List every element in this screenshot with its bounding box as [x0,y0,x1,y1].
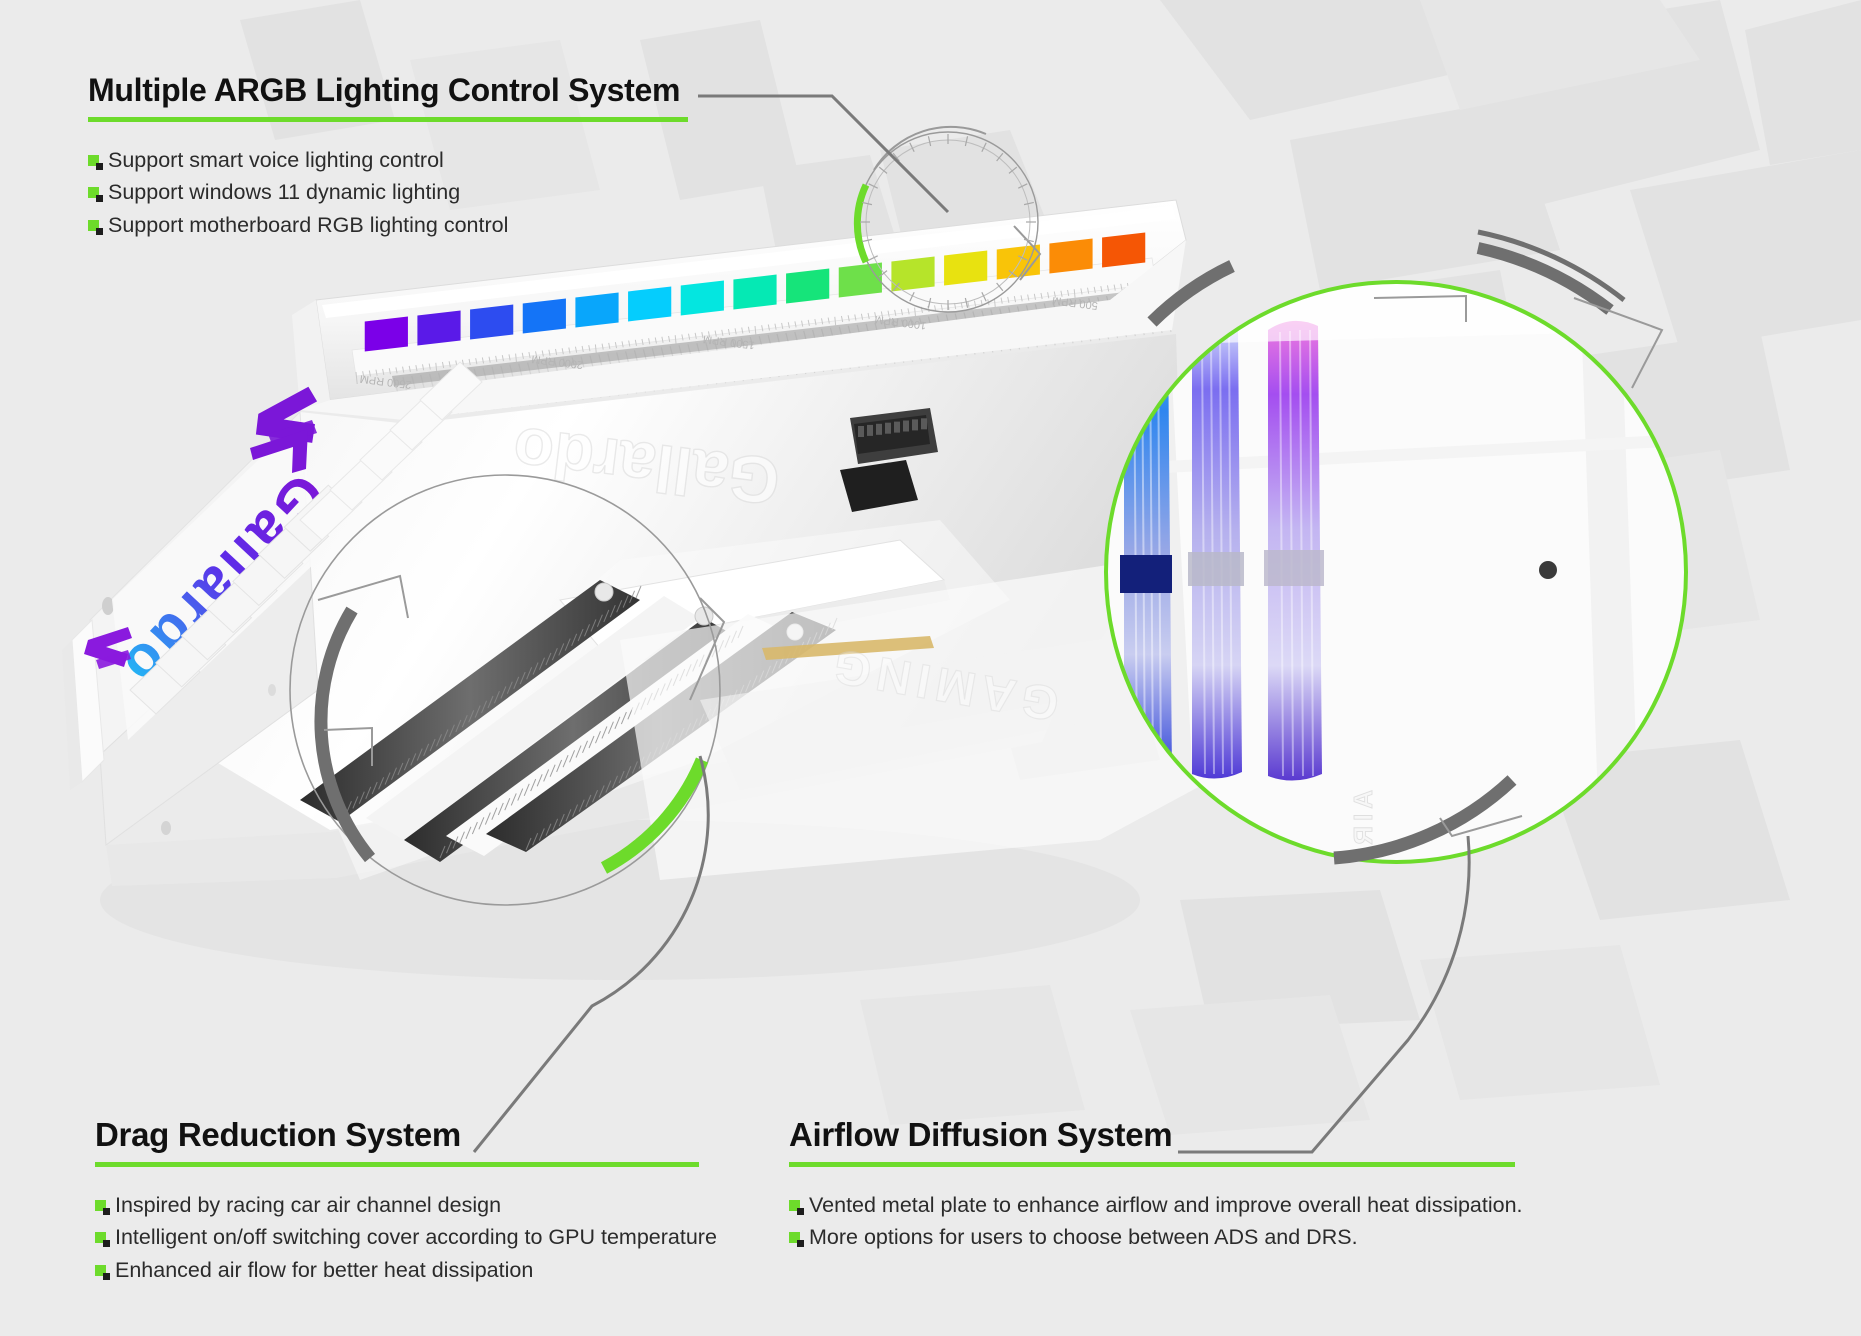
callout-drs-bullets: Inspired by racing car air channel desig… [95,1191,717,1285]
bullet-square-icon [95,1232,106,1243]
callout-ads: Airflow Diffusion System Vented metal pl… [789,1118,1523,1256]
bullet-label: Support motherboard RGB lighting control [108,211,508,240]
list-item: Support smart voice lighting control [88,146,688,175]
bullet-label: More options for users to choose between… [809,1223,1358,1252]
argb-strip-3 [1264,321,1324,781]
bullet-label: Intelligent on/off switching cover accor… [115,1223,717,1252]
list-item: Vented metal plate to enhance airflow an… [789,1191,1523,1220]
list-item: Support motherboard RGB lighting control [88,211,688,240]
callout-drs: Drag Reduction System Inspired by racing… [95,1118,717,1288]
list-item: Intelligent on/off switching cover accor… [95,1223,717,1252]
bullet-label: Inspired by racing car air channel desig… [115,1191,501,1220]
bullet-label: Support windows 11 dynamic lighting [108,178,460,207]
leader-argb [698,96,948,212]
bullet-label: Enhanced air flow for better heat dissip… [115,1256,533,1285]
bullet-square-icon [88,155,99,166]
callout-ads-title: Airflow Diffusion System [789,1118,1523,1153]
callout-argb-underline [88,117,688,122]
bullet-label: Vented metal plate to enhance airflow an… [809,1191,1523,1220]
list-item: More options for users to choose between… [789,1223,1523,1252]
callout-ads-bullets: Vented metal plate to enhance airflow an… [789,1191,1523,1252]
callout-drs-title: Drag Reduction System [95,1118,717,1153]
argb-strip-2 [1188,326,1244,779]
bullet-label: Support smart voice lighting control [108,146,444,175]
callout-drs-underline [95,1162,699,1167]
bullet-square-icon [789,1200,800,1211]
bullet-square-icon [95,1200,106,1211]
bullet-square-icon [88,220,99,231]
leader-ads [1178,836,1469,1152]
list-item: Inspired by racing car air channel desig… [95,1191,717,1220]
bullet-square-icon [88,187,99,198]
callout-argb: Multiple ARGB Lighting Control System Su… [88,74,688,243]
callout-argb-title: Multiple ARGB Lighting Control System [88,74,688,108]
callout-argb-bullets: Support smart voice lighting control Sup… [88,146,688,240]
list-item: Support windows 11 dynamic lighting [88,178,688,207]
bullet-square-icon [789,1232,800,1243]
callout-ads-underline [789,1162,1515,1167]
bullet-square-icon [95,1265,106,1276]
list-item: Enhanced air flow for better heat dissip… [95,1256,717,1285]
